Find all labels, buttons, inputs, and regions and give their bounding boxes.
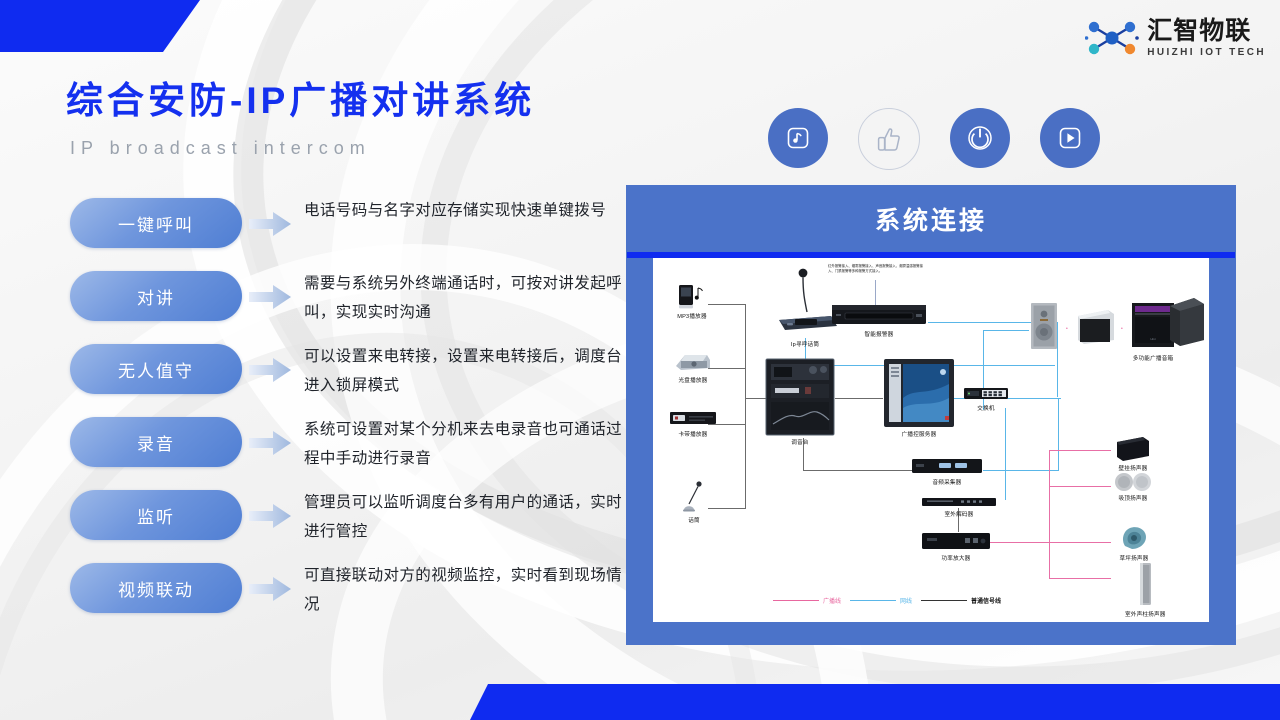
system-connection-panel: 系统连接 <box>627 186 1235 644</box>
feature-desc-wrap: 可直接联动对方的视频监控，实时看到现场情况 <box>298 561 630 619</box>
feature-label: 无人值守 <box>118 357 194 382</box>
feature-row: 录音 系统可设置对某个分机来去电录音也可通话过程中手动进行录音 <box>70 417 630 490</box>
device-audio-collector: 音频采集器 <box>911 458 983 486</box>
legend-item-broadcast: 广播线 <box>773 596 841 605</box>
feature-description: 电话号码与名字对应存储实现快速单键拨号 <box>304 196 630 225</box>
wire-network <box>1058 398 1059 470</box>
music-note-icon[interactable] <box>768 108 828 168</box>
device-mp3-player: MP3播放器 <box>675 284 709 320</box>
device-cd-player: 光盘播放器 <box>673 348 713 384</box>
legend-item-signal: 普通信号线 <box>921 596 1001 605</box>
feature-pill-luyin[interactable]: 录音 <box>70 417 242 467</box>
logo-molecule-icon <box>1085 17 1139 59</box>
system-diagram: 红外报警接入、烟雾报警接入、声音报警接入、烟雾温感报警接入、门禁报警等多种报警方… <box>653 258 1209 622</box>
device-label: MP3播放器 <box>677 312 706 320</box>
play-icon[interactable] <box>1040 108 1100 168</box>
brand-logo: 汇智物联 HUIZHI IOT TECH <box>1085 14 1266 62</box>
device-label: 交换机 <box>977 404 994 412</box>
wire-broadcast <box>1049 486 1111 487</box>
speaker-subwoofer <box>1166 296 1206 348</box>
page-subtitle: IP broadcast intercom <box>70 138 371 159</box>
device-label: 调音台 <box>791 438 808 446</box>
arrow-right-icon <box>242 356 298 384</box>
device-label: 智能报警器 <box>865 330 894 338</box>
arrow-right-icon <box>242 575 298 603</box>
arrow-right-icon <box>242 283 298 311</box>
wire-network <box>983 470 1059 471</box>
panel-title-bar: 系统连接 <box>627 186 1235 252</box>
device-label: 话筒 <box>688 516 700 524</box>
wire-network <box>983 330 1029 331</box>
feature-label: 对讲 <box>137 284 175 309</box>
device-broadcast-server: 广播控服务器 <box>883 358 955 438</box>
device-label: 室外声柱扬声器 <box>1125 610 1166 618</box>
feature-row: 一键呼叫 电话号码与名字对应存储实现快速单键拨号 <box>70 198 630 271</box>
connector-dot: • <box>1066 326 1068 332</box>
feature-row: 视频联动 可直接联动对方的视频监控，实时看到现场情况 <box>70 563 630 636</box>
device-label: 草坪扬声器 <box>1120 554 1149 562</box>
wire-network <box>1005 408 1006 500</box>
wire-network <box>983 330 984 390</box>
feature-description: 需要与系统另外终端通话时，可按对讲发起呼叫，实现实时沟通 <box>304 269 630 327</box>
wire-signal <box>835 398 883 399</box>
logo-name-cn: 汇智物联 <box>1147 19 1266 44</box>
feature-list: 一键呼叫 电话号码与名字对应存储实现快速单键拨号 对讲 <box>70 198 630 636</box>
device-tape-player: 卡带播放器 <box>669 408 717 438</box>
wire-signal <box>745 304 746 509</box>
feature-description: 可以设置来电转接，设置来电转接后，调度台进入锁屏模式 <box>304 342 630 400</box>
feature-pill-wurenzhishou[interactable]: 无人值守 <box>70 344 242 394</box>
wire-broadcast <box>1049 450 1111 451</box>
device-outdoor-decoder: 室外解码器 <box>921 496 997 518</box>
feature-label: 一键呼叫 <box>118 211 194 236</box>
feature-desc-wrap: 需要与系统另外终端通话时，可按对讲发起呼叫，实现实时沟通 <box>298 269 630 327</box>
header-icon-row <box>768 108 1100 170</box>
device-label: 吸顶扬声器 <box>1119 494 1148 502</box>
legend-label: 网线 <box>900 596 912 605</box>
thumbs-up-icon[interactable] <box>858 108 920 170</box>
device-label: 功率放大器 <box>942 554 971 562</box>
panel-title: 系统连接 <box>875 201 987 237</box>
speaker-wall-mount: 壁挂扬声器 <box>1115 436 1151 472</box>
bottom-right-accent-shape <box>470 684 1280 720</box>
arrow-right-icon <box>242 210 298 238</box>
legend-label: 广播线 <box>823 596 841 605</box>
wire-signal <box>708 508 746 509</box>
feature-description: 管理员可以监听调度台多有用户的通话，实时进行管控 <box>304 488 630 546</box>
page-title: 综合安防-IP广播对讲系统 <box>66 79 535 123</box>
logo-name-en: HUIZHI IOT TECH <box>1147 48 1266 58</box>
feature-pill-shipinliandong[interactable]: 视频联动 <box>70 563 242 613</box>
device-smart-alarm: 智能报警器 <box>831 304 927 338</box>
legend-swatch <box>921 600 967 601</box>
connector-dot: • <box>1121 326 1123 332</box>
feature-label: 监听 <box>137 503 175 528</box>
wire-broadcast <box>1049 578 1111 579</box>
feature-label: 视频联动 <box>118 576 194 601</box>
feature-row: 对讲 需要与系统另外终端通话时，可按对讲发起呼叫，实现实时沟通 <box>70 271 630 344</box>
device-mixer-console: 调音台 <box>765 358 835 446</box>
feature-desc-wrap: 可以设置来电转接，设置来电转接后，调度台进入锁屏模式 <box>298 342 630 400</box>
speaker-lawn: 草坪扬声器 <box>1119 524 1149 562</box>
wire-broadcast <box>1049 450 1050 578</box>
feature-pill-jianting[interactable]: 监听 <box>70 490 242 540</box>
power-icon[interactable] <box>950 108 1010 168</box>
device-label: Ip寻呼话筒 <box>791 340 819 348</box>
device-label: 卡带播放器 <box>679 430 708 438</box>
feature-description: 系统可设置对某个分机来去电录音也可通话过程中手动进行录音 <box>304 415 630 473</box>
legend-label: 普通信号线 <box>971 596 1001 605</box>
svg-text:Hivi: Hivi <box>1151 337 1156 341</box>
device-label: 音频采集器 <box>933 478 962 486</box>
device-network-switch: 交换机 <box>963 386 1009 412</box>
diagram-legend: 广播线 网线 普通信号线 <box>773 596 1001 605</box>
device-microphone: 话筒 <box>677 480 711 524</box>
speaker-cabinet-grey <box>1029 302 1059 350</box>
feature-pill-yijianhujiao[interactable]: 一键呼叫 <box>70 198 242 248</box>
arrow-right-icon <box>242 429 298 457</box>
speaker-ceiling-mount: 吸顶扬声器 <box>1113 472 1153 502</box>
feature-desc-wrap: 管理员可以监听调度台多有用户的通话，实时进行管控 <box>298 488 630 546</box>
device-label: 室外解码器 <box>945 510 974 518</box>
feature-label: 录音 <box>137 430 175 455</box>
wire-broadcast <box>989 542 1049 543</box>
arrow-right-icon <box>242 502 298 530</box>
device-label: 广播控服务器 <box>902 430 937 438</box>
wire-signal <box>803 470 913 471</box>
device-label: 壁挂扬声器 <box>1119 464 1148 472</box>
legend-swatch <box>773 600 819 601</box>
speaker-wall-box-white <box>1076 306 1116 346</box>
device-label: 光盘播放器 <box>679 376 708 384</box>
feature-description: 可直接联动对方的视频监控，实时看到现场情况 <box>304 561 630 619</box>
feature-desc-wrap: 电话号码与名字对应存储实现快速单键拨号 <box>298 196 630 225</box>
wire-broadcast <box>1049 542 1111 543</box>
feature-row: 无人值守 可以设置来电转接，设置来电转接后，调度台进入锁屏模式 <box>70 344 630 417</box>
legend-swatch <box>850 600 896 601</box>
feature-pill-duijiang[interactable]: 对讲 <box>70 271 242 321</box>
slide-canvas: 综合安防-IP广播对讲系统 IP broadcast intercom 汇智物联… <box>0 0 1280 720</box>
feature-row: 监听 管理员可以监听调度台多有用户的通话，实时进行管控 <box>70 490 630 563</box>
device-power-amplifier: 功率放大器 <box>921 532 991 562</box>
wire-signal <box>708 304 746 305</box>
legend-item-network: 网线 <box>850 596 912 605</box>
device-label: 多功能广播音箱 <box>1133 354 1174 362</box>
speaker-outdoor-column: 室外声柱扬声器 <box>1125 562 1166 618</box>
feature-desc-wrap: 系统可设置对某个分机来去电录音也可通话过程中手动进行录音 <box>298 415 630 473</box>
wire-signal <box>708 368 746 369</box>
